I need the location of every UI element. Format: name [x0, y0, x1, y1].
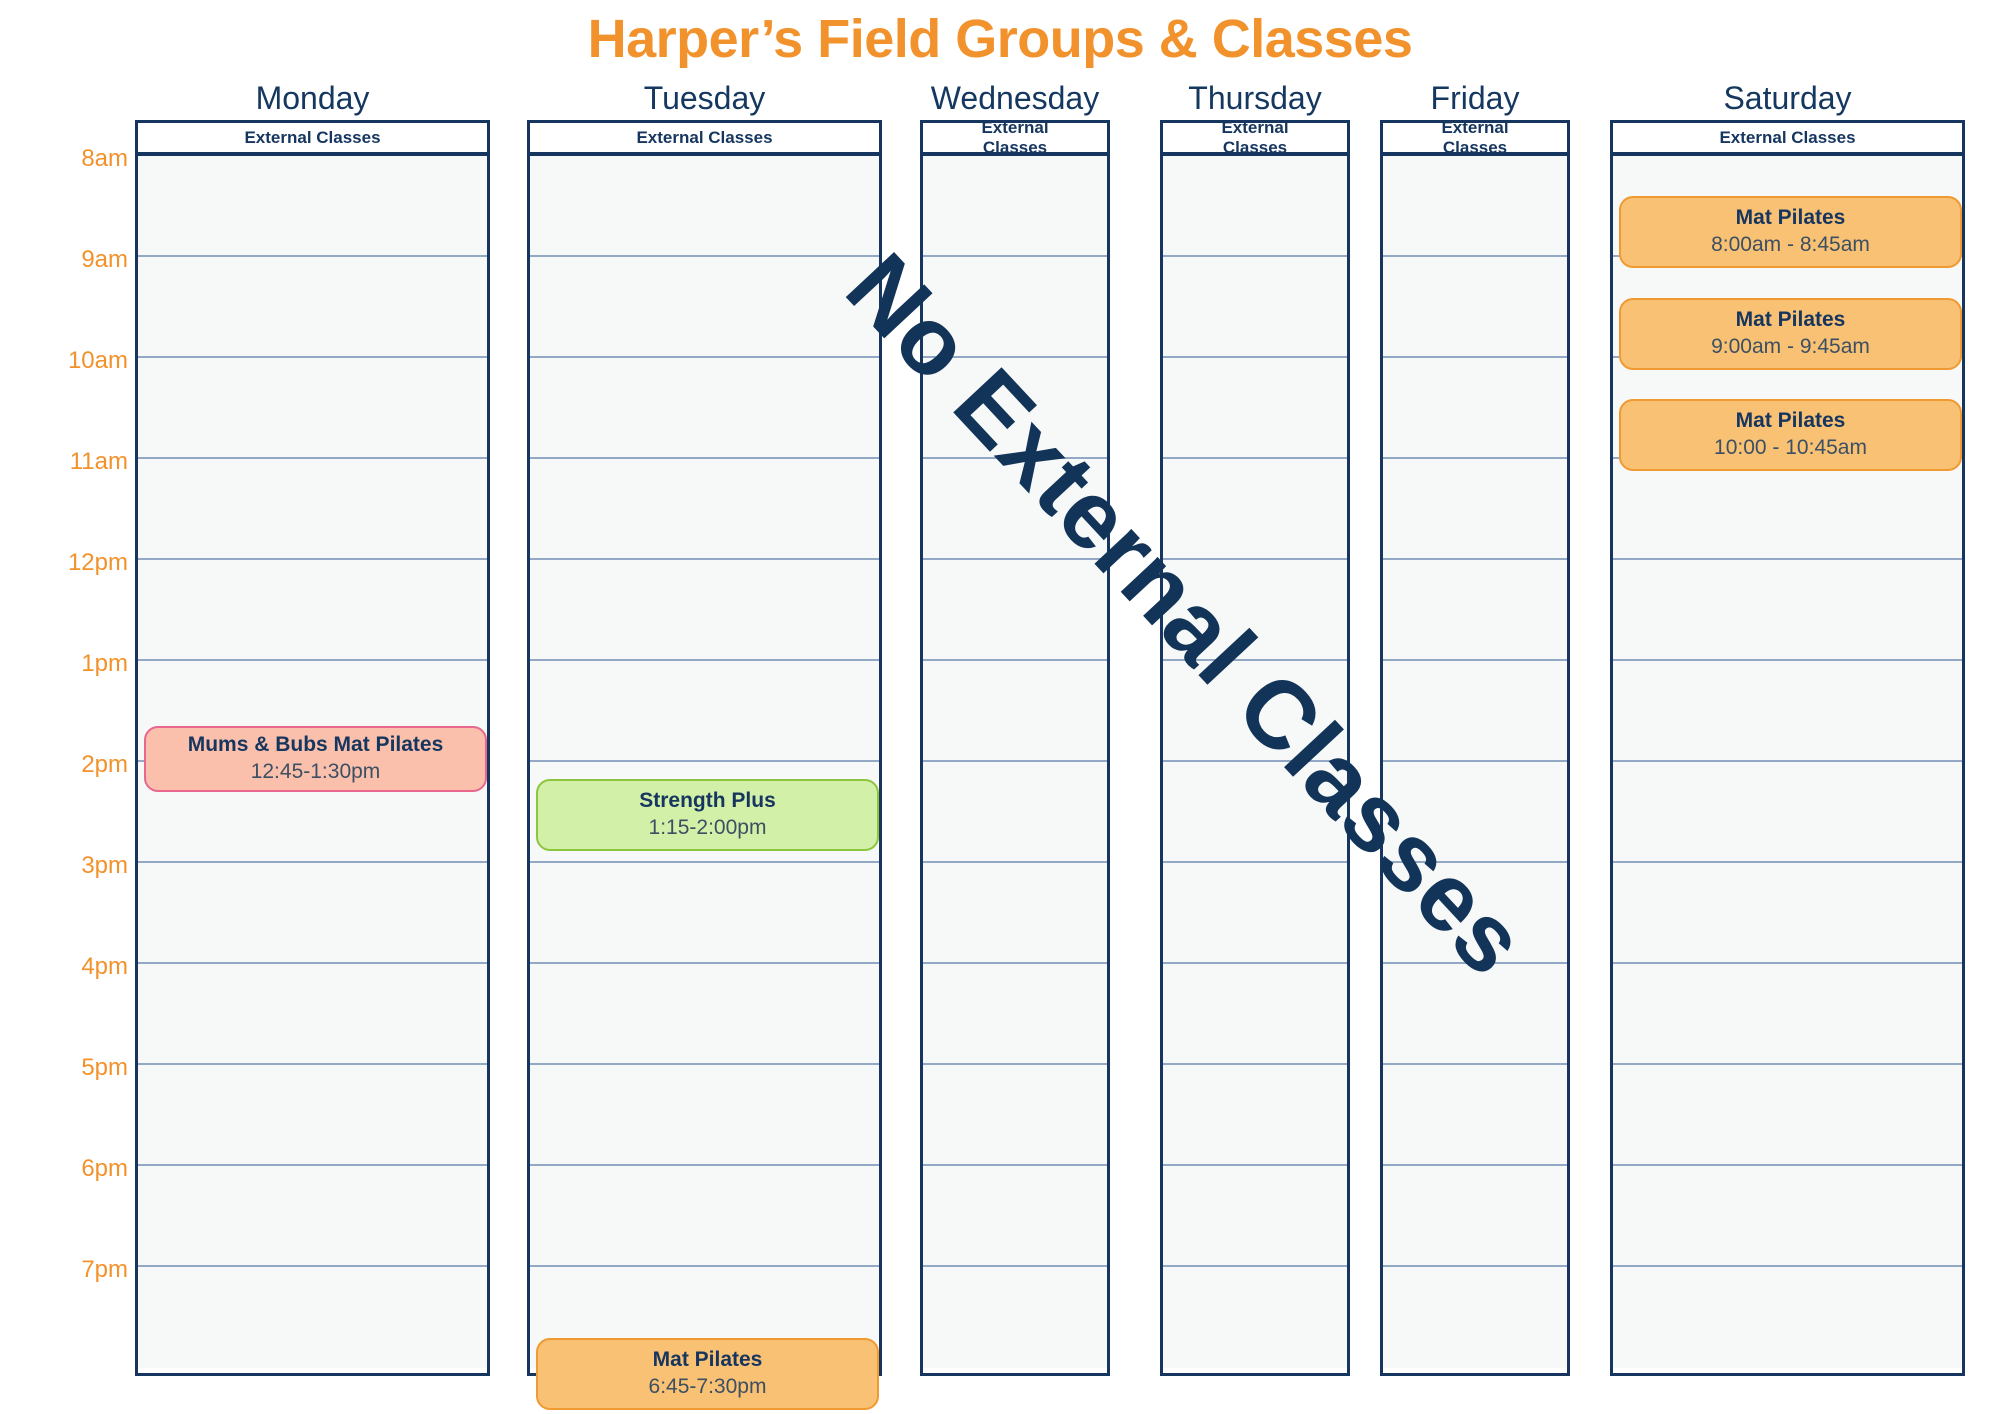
grid-slot[interactable]	[530, 964, 879, 1065]
class-event[interactable]: Strength Plus1:15-2:00pm	[536, 779, 879, 851]
grid-slot[interactable]	[1163, 358, 1347, 459]
grid-slot[interactable]	[923, 358, 1107, 459]
grid-slot[interactable]	[1613, 863, 1962, 964]
day-column-monday: MondayExternal ClassesMums & Bubs Mat Pi…	[135, 78, 490, 1376]
day-name-tuesday: Tuesday	[527, 78, 882, 120]
class-time: 9:00am - 9:45am	[1711, 333, 1870, 361]
grid-slot[interactable]	[1383, 560, 1567, 661]
grid-slot[interactable]	[923, 459, 1107, 560]
column-header-monday: External Classes	[138, 123, 487, 156]
class-time: 10:00 - 10:45am	[1714, 434, 1867, 462]
grid-slot[interactable]	[530, 358, 879, 459]
grid-slot[interactable]	[1163, 863, 1347, 964]
class-title: Strength Plus	[639, 788, 776, 814]
class-title: Mat Pilates	[1736, 408, 1846, 434]
grid-slot[interactable]	[530, 560, 879, 661]
grid-slot[interactable]	[138, 358, 487, 459]
column-box: ExternalClasses	[1380, 120, 1570, 1376]
column-box: External ClassesMat Pilates8:00am - 8:45…	[1610, 120, 1965, 1376]
grid-slot[interactable]	[138, 1267, 487, 1368]
grid-slot[interactable]	[138, 1166, 487, 1267]
time-label: 12pm	[8, 551, 128, 575]
grid-slot[interactable]	[1163, 257, 1347, 358]
grid-slot[interactable]	[1163, 762, 1347, 863]
column-grid	[530, 156, 879, 1368]
time-label: 4pm	[8, 955, 128, 979]
class-title: Mat Pilates	[1736, 307, 1846, 333]
class-event[interactable]: Mat Pilates10:00 - 10:45am	[1619, 399, 1962, 471]
grid-slot[interactable]	[923, 156, 1107, 257]
grid-slot[interactable]	[1383, 661, 1567, 762]
grid-slot[interactable]	[923, 560, 1107, 661]
day-column-tuesday: TuesdayExternal ClassesStrength Plus1:15…	[527, 78, 882, 1376]
grid-slot[interactable]	[1383, 964, 1567, 1065]
grid-slot[interactable]	[923, 762, 1107, 863]
day-name-friday: Friday	[1380, 78, 1570, 120]
grid-slot[interactable]	[530, 863, 879, 964]
grid-slot[interactable]	[1163, 661, 1347, 762]
column-header-friday: ExternalClasses	[1383, 123, 1567, 156]
grid-slot[interactable]	[923, 1065, 1107, 1166]
class-event[interactable]: Mat Pilates9:00am - 9:45am	[1619, 298, 1962, 370]
grid-slot[interactable]	[1383, 257, 1567, 358]
grid-slot[interactable]	[138, 863, 487, 964]
time-label: 6pm	[8, 1157, 128, 1181]
grid-slot[interactable]	[138, 156, 487, 257]
grid-slot[interactable]	[923, 863, 1107, 964]
day-name-monday: Monday	[135, 78, 490, 120]
grid-slot[interactable]	[1613, 459, 1962, 560]
grid-slot[interactable]	[1383, 156, 1567, 257]
class-title: Mums & Bubs Mat Pilates	[188, 732, 444, 758]
grid-slot[interactable]	[1163, 1267, 1347, 1368]
class-event[interactable]: Mat Pilates6:45-7:30pm	[536, 1338, 879, 1410]
column-grid	[923, 156, 1107, 1368]
column-grid	[1163, 156, 1347, 1368]
grid-slot[interactable]	[1163, 560, 1347, 661]
day-name-wednesday: Wednesday	[920, 78, 1110, 120]
grid-slot[interactable]	[1163, 156, 1347, 257]
time-label: 10am	[8, 349, 128, 373]
grid-slot[interactable]	[923, 661, 1107, 762]
column-header-thursday: ExternalClasses	[1163, 123, 1347, 156]
day-column-friday: FridayExternalClasses	[1380, 78, 1570, 1376]
time-label: 2pm	[8, 753, 128, 777]
grid-slot[interactable]	[1613, 1166, 1962, 1267]
grid-slot[interactable]	[1613, 661, 1962, 762]
grid-slot[interactable]	[923, 257, 1107, 358]
time-label: 9am	[8, 248, 128, 272]
class-time: 1:15-2:00pm	[649, 814, 767, 842]
grid-slot[interactable]	[1383, 1267, 1567, 1368]
grid-slot[interactable]	[1163, 459, 1347, 560]
class-title: Mat Pilates	[653, 1347, 763, 1373]
time-label: 11am	[8, 450, 128, 474]
time-label: 3pm	[8, 854, 128, 878]
grid-slot[interactable]	[1163, 1166, 1347, 1267]
column-box: External ClassesMums & Bubs Mat Pilates1…	[135, 120, 490, 1376]
column-header-tuesday: External Classes	[530, 123, 879, 156]
grid-slot[interactable]	[1613, 964, 1962, 1065]
day-name-saturday: Saturday	[1610, 78, 1965, 120]
grid-slot[interactable]	[1383, 459, 1567, 560]
grid-slot[interactable]	[1613, 1065, 1962, 1166]
grid-slot[interactable]	[530, 156, 879, 257]
grid-slot[interactable]	[1163, 964, 1347, 1065]
grid-slot[interactable]	[923, 964, 1107, 1065]
day-name-thursday: Thursday	[1160, 78, 1350, 120]
column-box: External ClassesStrength Plus1:15-2:00pm…	[527, 120, 882, 1376]
grid-slot[interactable]	[530, 257, 879, 358]
grid-slot[interactable]	[138, 964, 487, 1065]
grid-slot[interactable]	[1613, 560, 1962, 661]
grid-slot[interactable]	[530, 661, 879, 762]
grid-slot[interactable]	[1613, 1267, 1962, 1368]
column-box: ExternalClasses	[920, 120, 1110, 1376]
class-time: 6:45-7:30pm	[649, 1373, 767, 1401]
grid-slot[interactable]	[1383, 1065, 1567, 1166]
class-event[interactable]: Mums & Bubs Mat Pilates12:45-1:30pm	[144, 726, 487, 792]
class-time: 12:45-1:30pm	[251, 758, 381, 786]
grid-slot[interactable]	[923, 1267, 1107, 1368]
day-column-thursday: ThursdayExternalClasses	[1160, 78, 1350, 1376]
grid-slot[interactable]	[1383, 358, 1567, 459]
grid-slot[interactable]	[1383, 762, 1567, 863]
timetable-board: 8am9am10am11am12pm1pm2pm3pm4pm5pm6pm7pm …	[0, 78, 2000, 1368]
grid-slot[interactable]	[1163, 1065, 1347, 1166]
grid-slot[interactable]	[138, 1065, 487, 1166]
grid-slot[interactable]	[138, 459, 487, 560]
day-column-saturday: SaturdayExternal ClassesMat Pilates8:00a…	[1610, 78, 1965, 1376]
grid-slot[interactable]	[1613, 762, 1962, 863]
page-title: Harper’s Field Groups & Classes	[0, 8, 2000, 70]
column-grid	[1383, 156, 1567, 1368]
class-time: 8:00am - 8:45am	[1711, 231, 1870, 259]
grid-slot[interactable]	[530, 459, 879, 560]
column-header-saturday: External Classes	[1613, 123, 1962, 156]
grid-slot[interactable]	[923, 1166, 1107, 1267]
column-header-wednesday: ExternalClasses	[923, 123, 1107, 156]
grid-slot[interactable]	[1383, 863, 1567, 964]
class-event[interactable]: Mat Pilates8:00am - 8:45am	[1619, 196, 1962, 268]
time-label: 7pm	[8, 1258, 128, 1282]
column-box: ExternalClasses	[1160, 120, 1350, 1376]
time-label: 8am	[8, 147, 128, 171]
day-column-wednesday: WednesdayExternalClasses	[920, 78, 1110, 1376]
grid-slot[interactable]	[530, 1065, 879, 1166]
class-title: Mat Pilates	[1736, 205, 1846, 231]
grid-slot[interactable]	[138, 560, 487, 661]
time-label: 5pm	[8, 1056, 128, 1080]
grid-slot[interactable]	[1383, 1166, 1567, 1267]
grid-slot[interactable]	[530, 1166, 879, 1267]
grid-slot[interactable]	[138, 257, 487, 358]
time-label: 1pm	[8, 652, 128, 676]
